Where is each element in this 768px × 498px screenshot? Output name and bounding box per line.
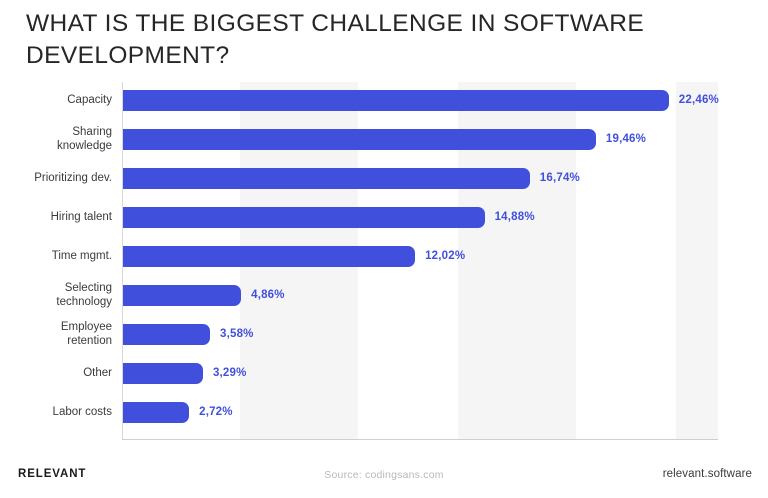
bar-row: Time mgmt.12,02%	[0, 246, 768, 267]
bar[interactable]	[123, 90, 669, 111]
bar-value-label: 16,74%	[540, 168, 580, 189]
source-note: Source: codingsans.com	[0, 469, 768, 481]
category-label: Labor costs	[0, 406, 112, 420]
bar[interactable]	[123, 246, 415, 267]
bar-value-label: 19,46%	[606, 129, 646, 150]
category-label: Selecting technology	[0, 282, 112, 309]
bar-value-label: 22,46%	[679, 90, 719, 111]
bar-value-label: 3,58%	[220, 324, 254, 345]
bar[interactable]	[123, 324, 210, 345]
category-label: Prioritizing dev.	[0, 172, 112, 186]
bar-row: Capacity22,46%	[0, 90, 768, 111]
bar-value-label: 14,88%	[495, 207, 535, 228]
category-label: Employee retention	[0, 321, 112, 348]
bar[interactable]	[123, 168, 530, 189]
bar[interactable]	[123, 402, 189, 423]
category-label: Hiring talent	[0, 211, 112, 225]
bar-row: Selecting technology4,86%	[0, 285, 768, 306]
bar-value-label: 3,29%	[213, 363, 247, 384]
bar[interactable]	[123, 129, 596, 150]
bar[interactable]	[123, 363, 203, 384]
bar[interactable]	[123, 207, 485, 228]
bar-rows: Capacity22,46%Sharing knowledge19,46%Pri…	[0, 82, 768, 440]
bar-row: Prioritizing dev.16,74%	[0, 168, 768, 189]
chart-plot-area: Capacity22,46%Sharing knowledge19,46%Pri…	[0, 82, 768, 446]
bar-row: Employee retention3,58%	[0, 324, 768, 345]
bar-row: Labor costs2,72%	[0, 402, 768, 423]
footer: RELEVANT Source: codingsans.com relevant…	[0, 462, 768, 498]
page-title: WHAT IS THE BIGGEST CHALLENGE IN SOFTWAR…	[26, 8, 686, 73]
category-label: Time mgmt.	[0, 250, 112, 264]
bar-value-label: 4,86%	[251, 285, 285, 306]
website-link[interactable]: relevant.software	[663, 468, 752, 480]
bar-row: Other3,29%	[0, 363, 768, 384]
bar[interactable]	[123, 285, 241, 306]
category-label: Capacity	[0, 94, 112, 108]
bar-row: Hiring talent14,88%	[0, 207, 768, 228]
category-label: Other	[0, 367, 112, 381]
bar-value-label: 2,72%	[199, 402, 233, 423]
bar-value-label: 12,02%	[425, 246, 465, 267]
category-label: Sharing knowledge	[0, 126, 112, 153]
bar-row: Sharing knowledge19,46%	[0, 129, 768, 150]
